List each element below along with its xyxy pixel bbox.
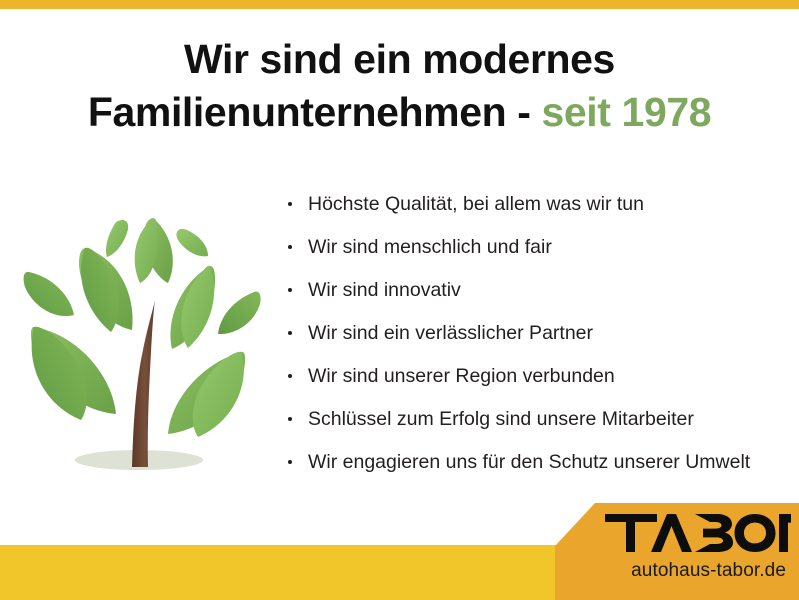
tabor-logo-icon xyxy=(605,514,791,552)
tree-icon xyxy=(12,182,270,482)
tabor-wordmark xyxy=(605,514,791,552)
page-title: Wir sind ein modernes Familienunternehme… xyxy=(0,33,799,139)
list-item: Wir sind ein verlässlicher Partner xyxy=(286,320,786,363)
list-item-label: Wir engagieren uns für den Schutz unsere… xyxy=(308,451,750,473)
bullet-dot-icon xyxy=(288,288,292,292)
bullet-dot-icon xyxy=(288,331,292,335)
tree-leaf xyxy=(193,352,244,437)
list-item: Schlüssel zum Erfolg sind unsere Mitarbe… xyxy=(286,406,786,449)
bullet-dot-icon xyxy=(288,202,292,206)
list-item-label: Wir sind unserer Region verbunden xyxy=(308,365,615,387)
list-item-label: Schlüssel zum Erfolg sind unsere Mitarbe… xyxy=(308,408,694,430)
tree-leaf xyxy=(24,272,74,316)
headline-line-1: Wir sind ein modernes xyxy=(0,33,799,86)
slide-canvas: Wir sind ein modernes Familienunternehme… xyxy=(0,0,799,600)
list-item: Wir sind innovativ xyxy=(286,277,786,320)
list-item: Wir sind menschlich und fair xyxy=(286,234,786,277)
list-item-label: Wir sind menschlich und fair xyxy=(308,236,552,258)
tree-leaf xyxy=(218,292,261,334)
bullet-dot-icon xyxy=(288,460,292,464)
list-item: Wir sind unserer Region verbunden xyxy=(286,363,786,406)
tree-leaf xyxy=(32,327,87,420)
value-bullet-list: Höchste Qualität, bei allem was wir tun … xyxy=(286,191,786,492)
headline-line-2-main: Familienunternehmen - xyxy=(88,89,542,135)
logo-tagline: autohaus-tabor.de xyxy=(555,560,799,582)
headline-accent-year: seit 1978 xyxy=(542,89,712,135)
list-item-label: Höchste Qualität, bei allem was wir tun xyxy=(308,193,644,215)
list-item: Wir engagieren uns für den Schutz unsere… xyxy=(286,449,786,492)
list-item-label: Wir sind innovativ xyxy=(308,279,461,301)
tree-leaf xyxy=(81,248,118,332)
tree-leaf xyxy=(106,220,128,257)
tree-leaf xyxy=(181,266,214,348)
bullet-dot-icon xyxy=(288,245,292,249)
tree-illustration xyxy=(12,182,270,482)
tree-leaf xyxy=(135,218,158,283)
tree-leaf xyxy=(176,229,208,257)
tree-trunk xyxy=(132,300,155,467)
list-item: Höchste Qualität, bei allem was wir tun xyxy=(286,191,786,234)
list-item-label: Wir sind ein verlässlicher Partner xyxy=(308,322,593,344)
bullet-dot-icon xyxy=(288,374,292,378)
headline-line-2: Familienunternehmen - seit 1978 xyxy=(0,86,799,139)
top-accent-bar xyxy=(0,0,799,9)
brand-logo-panel[interactable]: autohaus-tabor.de xyxy=(555,503,799,600)
bullet-dot-icon xyxy=(288,417,292,421)
